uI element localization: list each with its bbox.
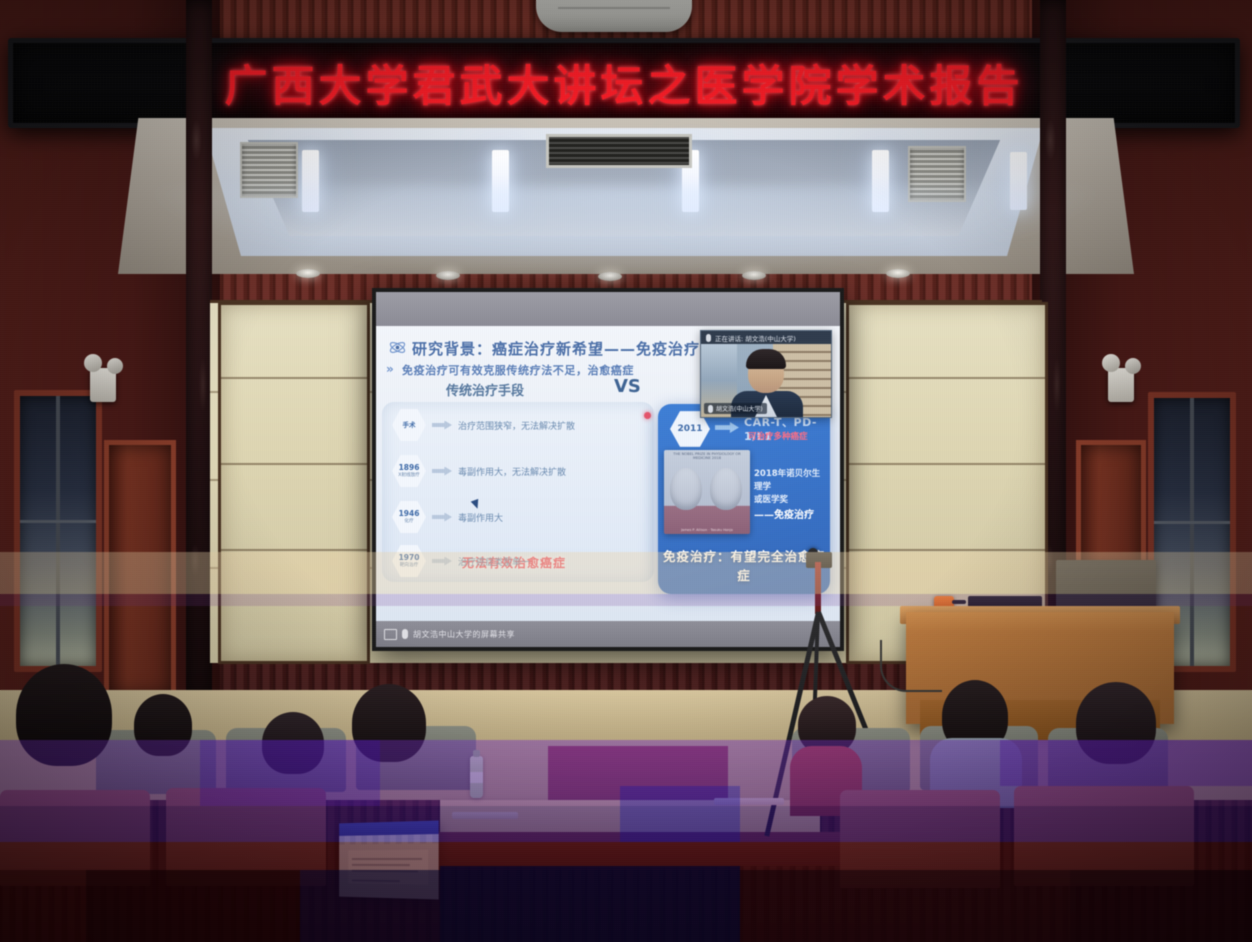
audience-head-front (16, 664, 112, 766)
microphone-icon (706, 334, 711, 342)
nobel-names: James P. Allison · Tasuku Honjo (664, 528, 750, 532)
audience-head (1076, 682, 1156, 764)
arrow-right-icon (432, 513, 452, 522)
atom-icon (388, 338, 407, 357)
zoom-name-label: 胡文浩(中山大学) (716, 404, 763, 413)
tripod-neck (815, 562, 821, 614)
zoom-speaking-bar: 正在讲话: 胡文浩(中山大学) (701, 331, 831, 344)
timeline-marker: 1970 靶向治疗 (392, 544, 426, 578)
zoom-name-badge: 胡文浩(中山大学) (704, 403, 767, 414)
nobel-prize-image: THE NOBEL PRIZE IN PHYSIOLOGY OR MEDICIN… (664, 450, 750, 534)
nobel-laureate-portrait (710, 468, 742, 510)
audience-head (352, 684, 426, 762)
audience-head (262, 712, 324, 774)
podium-cable (880, 640, 942, 692)
timeline-row: 1896 X射线放疗 毒副作用大，无法解决扩散 (392, 454, 566, 488)
nobel-laureate-portrait (670, 468, 702, 510)
laptop-document (348, 850, 428, 885)
marble-pilaster-left (186, 0, 212, 700)
award-text: 2018年诺贝尔生理学 或医学奖 ——免疫治疗 (754, 468, 826, 523)
zoom-video-thumbnail[interactable]: 正在讲话: 胡文浩(中山大学) 胡文浩(中山大学) (700, 330, 832, 418)
window-mullion (20, 520, 96, 523)
chair-row2 (840, 790, 1000, 888)
timeline-outcome: 毒副作用大 (458, 511, 503, 524)
window-mullion (56, 396, 60, 666)
folding-tray (714, 798, 784, 805)
chair-row2 (0, 790, 150, 886)
timeline-marker: 手术 (392, 408, 426, 442)
projection-screen-surface: 研究背景：癌症治疗新希望——免疫治疗 » 免疫治疗可有效克服传统疗法不足，治愈癌… (376, 292, 840, 647)
screen-share-label: 胡文浩中山大学的屏幕共享 (413, 629, 515, 640)
podium-monitor (1056, 560, 1156, 612)
aisle-carpet (548, 746, 728, 802)
speaker-hair (746, 349, 786, 369)
microphone-icon (402, 629, 408, 639)
timeline-marker: 1946 化疗 (392, 500, 426, 534)
zoom-speaking-label: 正在讲话: 胡文浩(中山大学) (715, 333, 796, 343)
timeline-row: 1970 靶向治疗 治疗癌症类型单一 (392, 544, 530, 578)
wall-speaker-right (1108, 368, 1134, 402)
window-left (14, 390, 102, 672)
timeline-outcome: 治疗癌症类型单一 (458, 555, 530, 568)
audience-head (134, 694, 192, 756)
nobel-caption: THE NOBEL PRIZE IN PHYSIOLOGY OR MEDICIN… (664, 452, 750, 461)
projection-screen: 研究背景：癌症治疗新希望——免疫治疗 » 免疫治疗可有效克服传统疗法不足，治愈癌… (372, 288, 844, 651)
zoom-bottom-bar[interactable]: 胡文浩中山大学的屏幕共享 (376, 621, 840, 647)
lecture-hall-photo: 广西大学君武大讲坛之医学院学术报告 (0, 0, 1252, 942)
zoom-top-bar (376, 292, 840, 326)
screen-share-icon (384, 629, 397, 640)
arrow-right-icon (432, 421, 452, 430)
timeline-row: 手术 治疗范围狭窄，无法解决扩散 (392, 408, 575, 442)
chevron-right-icon: » (386, 362, 394, 376)
arrow-right-icon (432, 467, 452, 476)
folding-tray (452, 812, 518, 819)
slide-title: 研究背景：癌症治疗新希望——免疫治疗 (412, 338, 700, 359)
window-mullion (1154, 521, 1230, 524)
stage-step-lower (410, 832, 850, 866)
timeline-row: 1946 化疗 毒副作用大 (392, 500, 503, 534)
traditional-treatment-card: 手术 治疗范围狭窄，无法解决扩散 1896 X射线放疗 毒副作用大，无法解决扩散 (382, 402, 654, 582)
window-mullion (1190, 398, 1194, 666)
chair-row2 (166, 788, 326, 886)
immunotherapy-verdict: 免疫治疗：有望完全治愈癌症 (658, 546, 830, 584)
microphone-icon (708, 405, 713, 413)
water-bottle (470, 756, 483, 798)
immunotherapy-card: 2011 CAR-T、PD-1/L1 可治疗多种癌症 THE NOBEL PRI… (658, 404, 830, 594)
slide-subtitle: 免疫治疗可有效克服传统疗法不足，治愈癌症 (402, 362, 634, 378)
audience-laptop (339, 820, 439, 899)
timeline-outcome: 治疗范围狭窄，无法解决扩散 (458, 419, 575, 432)
slide-left-heading: 传统治疗手段 (446, 380, 524, 399)
arrow-right-icon (715, 422, 739, 433)
door-left[interactable] (104, 440, 176, 700)
slide-red-dot (644, 412, 651, 419)
slide-vs-label: VS (614, 376, 641, 397)
timeline-outcome: 毒副作用大，无法解决扩散 (458, 465, 566, 478)
chair-row2 (1014, 786, 1194, 886)
laptop-toolbar (339, 834, 439, 845)
acoustic-panel-left (218, 302, 370, 664)
ceiling-glow (150, 186, 1100, 278)
ac-vent-center (546, 134, 692, 168)
ceiling-projector (536, 0, 692, 32)
timeline-marker: 1896 X射线放疗 (392, 454, 426, 488)
therapy-note: 可治疗多种癌症 (748, 430, 808, 442)
presentation-slide: 研究背景：癌症治疗新希望——免疫治疗 » 免疫治疗可有效克服传统疗法不足，治愈癌… (376, 326, 840, 621)
wall-speaker-left (90, 368, 116, 402)
arrow-right-icon (432, 557, 452, 566)
